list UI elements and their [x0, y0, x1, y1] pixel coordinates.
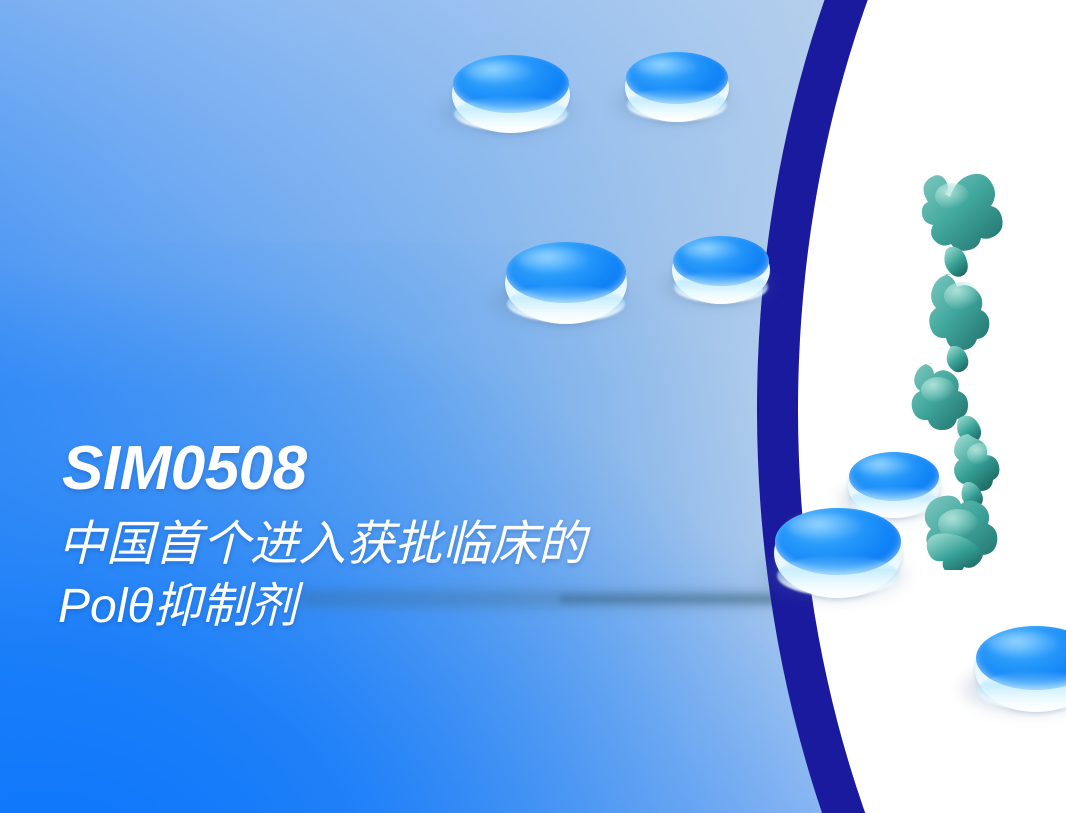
- blue-tablet-pill: [452, 55, 570, 133]
- pill-rim: [627, 88, 727, 120]
- pill-rim: [777, 555, 900, 596]
- headline-block: SIM0508 中国首个进入获批临床的 Polθ抑制剂: [58, 438, 586, 639]
- blue-tablet-pill: [774, 508, 902, 598]
- blue-tablet-pill: [975, 626, 1066, 712]
- blue-tablet-pill: [672, 236, 770, 304]
- pill-gloss-highlight: [517, 247, 588, 272]
- subtitle-line-2: Polθ抑制剂: [58, 576, 586, 638]
- product-name: SIM0508: [58, 438, 586, 500]
- pill-rim: [507, 285, 624, 323]
- blue-tablet-pill: [505, 242, 627, 324]
- protein-structure-model: [888, 158, 1016, 570]
- pill-rim: [674, 271, 768, 302]
- pill-rim: [454, 96, 567, 132]
- pill-gloss-highlight: [464, 60, 532, 83]
- subtitle-line-1: 中国首个进入获批临床的: [58, 514, 586, 576]
- subtitle: 中国首个进入获批临床的 Polθ抑制剂: [58, 514, 586, 639]
- pill-gloss-highlight: [987, 631, 1058, 657]
- pill-gloss-highlight: [635, 56, 695, 77]
- blue-tablet-pill: [625, 52, 729, 122]
- poster-canvas: SIM0508 中国首个进入获批临床的 Polθ抑制剂: [0, 0, 1066, 813]
